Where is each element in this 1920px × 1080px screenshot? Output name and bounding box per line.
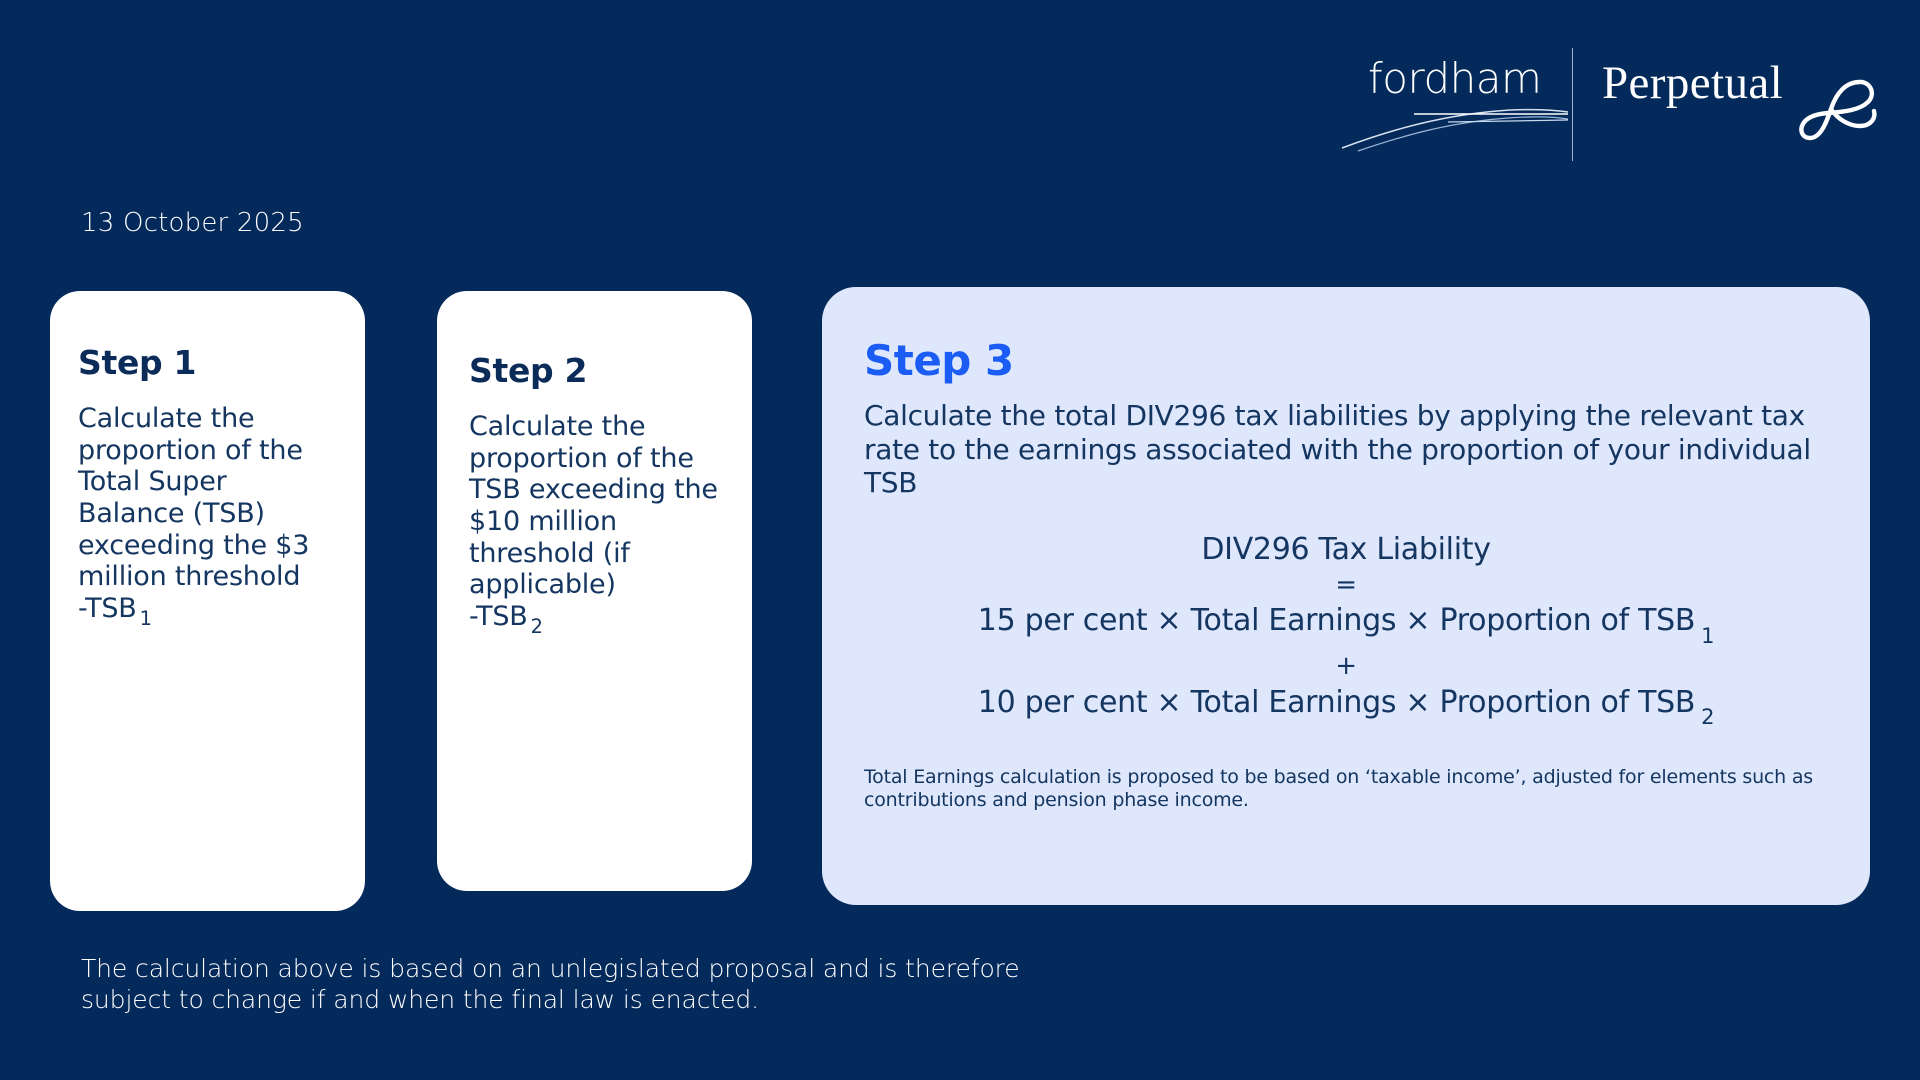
perpetual-flourish-icon: [1798, 68, 1884, 154]
formula-term-1-subscript: 1: [1695, 624, 1714, 648]
step-card-2-tag-subscript: 2: [528, 615, 543, 638]
div296-formula: DIV296 Tax Liability = 15 per cent × Tot…: [864, 530, 1828, 732]
brand-logo-lockup: fordham Perpetual: [1340, 44, 1870, 169]
fordham-logo: fordham: [1340, 52, 1570, 162]
step-card-2[interactable]: Step 2 Calculate the proportion of the T…: [437, 291, 752, 891]
step-card-2-tag-prefix: -TSB: [469, 601, 528, 632]
step-card-1[interactable]: Step 1 Calculate the proportion of the T…: [50, 291, 365, 911]
formula-term-2-subscript: 2: [1695, 705, 1714, 729]
step-card-1-tag: -TSB1: [78, 593, 337, 631]
step-card-1-tag-prefix: -TSB: [78, 593, 137, 624]
formula-plus-sign: +: [864, 650, 1828, 683]
step-3-panel[interactable]: Step 3 Calculate the total DIV296 tax li…: [822, 287, 1870, 905]
formula-term-2: 10 per cent × Total Earnings × Proportio…: [864, 683, 1828, 732]
formula-term-1: 15 per cent × Total Earnings × Proportio…: [864, 601, 1828, 650]
step-card-2-body: Calculate the proportion of the TSB exce…: [469, 411, 724, 600]
perpetual-logo: Perpetual: [1602, 50, 1870, 158]
step-card-1-body: Calculate the proportion of the Total Su…: [78, 403, 337, 592]
logo-divider: [1572, 48, 1573, 161]
formula-term-1-text: 15 per cent × Total Earnings × Proportio…: [978, 603, 1695, 638]
step-card-2-tag: -TSB2: [469, 601, 724, 639]
formula-equals-sign: =: [864, 569, 1828, 602]
fordham-wordmark: fordham: [1368, 58, 1541, 100]
formula-term-2-text: 10 per cent × Total Earnings × Proportio…: [978, 685, 1695, 720]
perpetual-wordmark: Perpetual: [1602, 60, 1783, 107]
step-3-lead-text: Calculate the total DIV296 tax liabiliti…: [864, 399, 1828, 500]
slide-date: 13 October 2025: [81, 208, 304, 238]
step-card-1-tag-subscript: 1: [137, 607, 152, 630]
slide-disclaimer: The calculation above is based on an unl…: [81, 953, 1061, 1016]
slide-root: fordham Perpetual 13 October 2025 Step 1…: [0, 0, 1920, 1080]
formula-result-label: DIV296 Tax Liability: [864, 530, 1828, 569]
step-3-footnote: Total Earnings calculation is proposed t…: [864, 766, 1828, 812]
step-3-title: Step 3: [864, 339, 1828, 383]
step-card-2-title: Step 2: [469, 353, 724, 389]
step-card-1-title: Step 1: [78, 345, 337, 381]
